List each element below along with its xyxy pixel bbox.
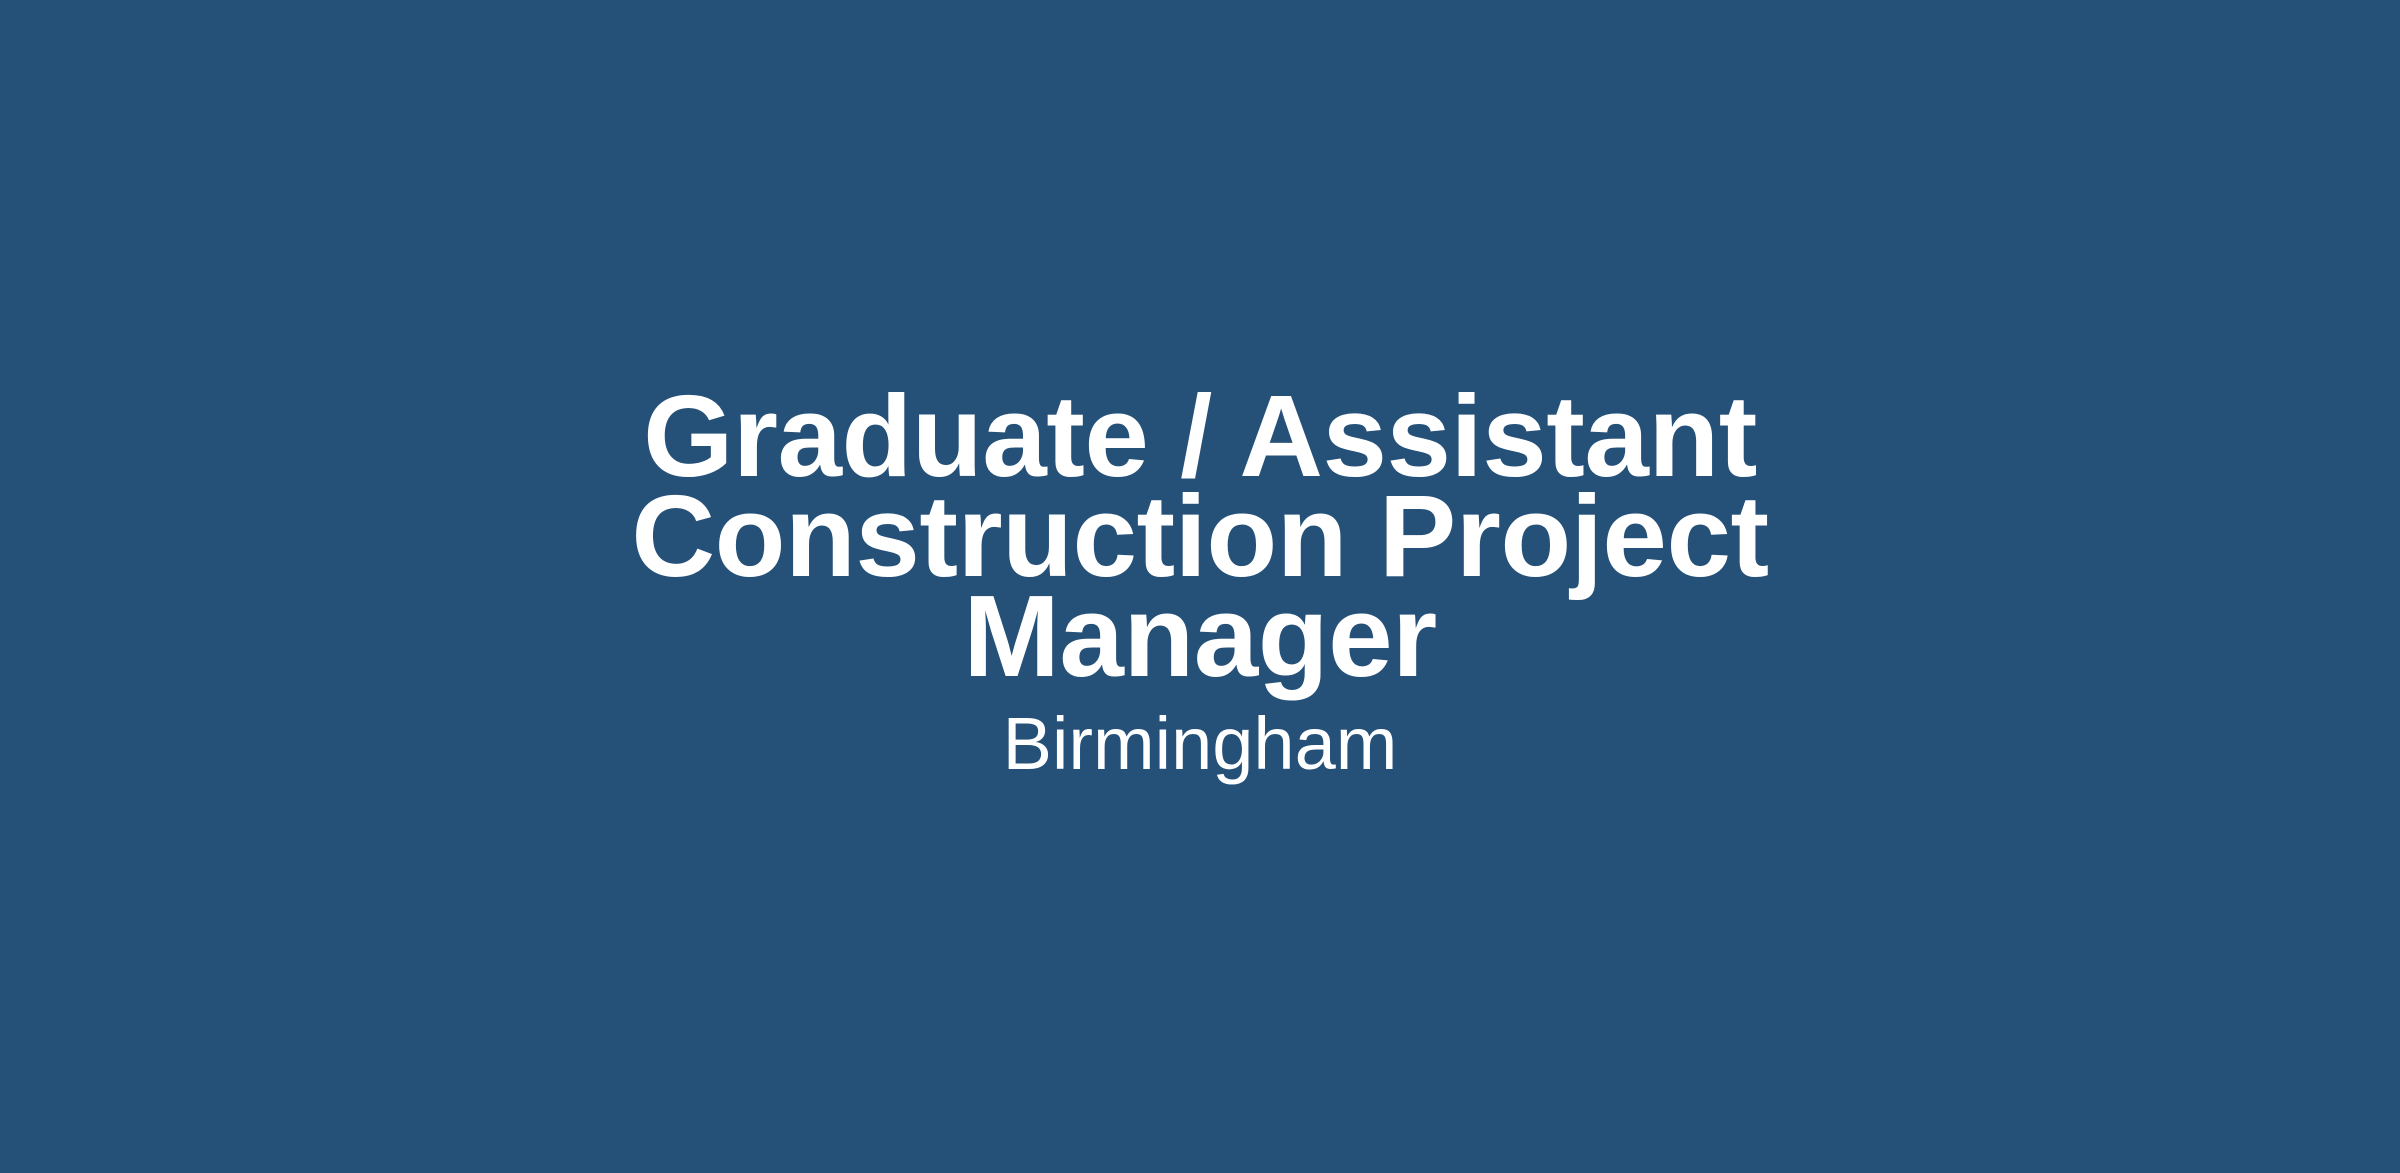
job-title: Graduate / Assistant Construction Projec… <box>593 386 1808 686</box>
job-card-content: Graduate / Assistant Construction Projec… <box>593 386 1808 787</box>
job-location: Birmingham <box>1003 701 1398 787</box>
job-listing-card: Graduate / Assistant Construction Projec… <box>0 0 2400 1173</box>
